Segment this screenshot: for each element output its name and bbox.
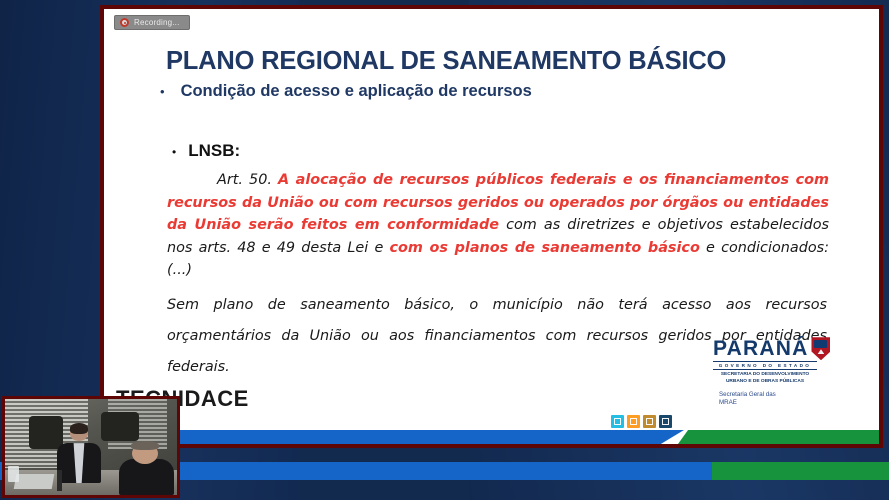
cam-person-two-hair	[131, 441, 159, 450]
cam-person-one-hair	[70, 423, 89, 434]
page-title: PLANO REGIONAL DE SANEAMENTO BÁSICO	[166, 47, 726, 76]
slide-frame: Recording... PLANO REGIONAL DE SANEAMENT…	[100, 5, 883, 448]
slide-footer-green-band	[678, 430, 879, 444]
recording-badge[interactable]: Recording...	[114, 15, 190, 30]
cam-laptop	[14, 474, 55, 489]
slide-subtitle-row: • Condição de acesso e aplicação de recu…	[160, 82, 532, 101]
sdg-icon-partnerships	[659, 415, 672, 428]
backdrop-green-band	[712, 462, 889, 480]
sdg-icon-cities	[627, 415, 640, 428]
lnsb-label: LNSB:	[188, 141, 240, 161]
cam-person-two-torso	[119, 459, 174, 495]
article-prefix: Art. 50.	[217, 172, 278, 188]
parana-wordmark: PARANÁ	[713, 339, 808, 359]
cam-chair-back-right	[101, 412, 139, 441]
cam-water-glass	[8, 466, 18, 481]
parana-secretariat-line-1: SECRETARIA DO DESENVOLVIMENTO	[713, 372, 817, 378]
lnsb-heading-row: • LNSB:	[172, 141, 240, 161]
parana-secretariat-line-2: URBANO E DE OBRAS PÚBLICAS	[713, 379, 817, 385]
webcam-pip[interactable]	[2, 396, 180, 498]
meeting-room-video-feed	[5, 399, 177, 495]
article-red-clause-2: com os planos de saneamento básico	[390, 240, 700, 256]
bullet-marker: •	[172, 146, 176, 158]
parana-shield-icon	[811, 337, 830, 360]
slide-canvas: Recording... PLANO REGIONAL DE SANEAMENT…	[104, 9, 879, 444]
parana-sub-line-1: Secretaria Geral das	[719, 391, 841, 398]
sdg-icon-row	[611, 415, 672, 428]
slide-subtitle: Condição de acesso e aplicação de recurs…	[181, 82, 532, 101]
parana-sub-line-2: MRAE	[719, 399, 841, 406]
parana-logo: PARANÁ GOVERNO DO ESTADO SECRETARIA DO D…	[713, 339, 841, 406]
sdg-icon-consumption	[643, 415, 656, 428]
bullet-marker: •	[160, 85, 165, 98]
parana-secretariat: SECRETARIA DO DESENVOLVIMENTO URBANO E D…	[713, 372, 817, 385]
sdg-icon-water	[611, 415, 624, 428]
recording-label: Recording...	[134, 18, 180, 27]
parana-sub-secretariat: Secretaria Geral das MRAE	[719, 391, 841, 406]
parana-logo-top: PARANÁ	[713, 339, 841, 360]
cam-chair-back-left	[29, 416, 63, 449]
paragraph-article-50: Art. 50. A alocação de recursos públicos…	[167, 169, 829, 282]
parana-government-line: GOVERNO DO ESTADO	[713, 361, 817, 370]
record-dot-icon	[120, 18, 129, 27]
cam-microphone	[57, 470, 62, 491]
slide-footer-blue-band	[104, 430, 684, 444]
